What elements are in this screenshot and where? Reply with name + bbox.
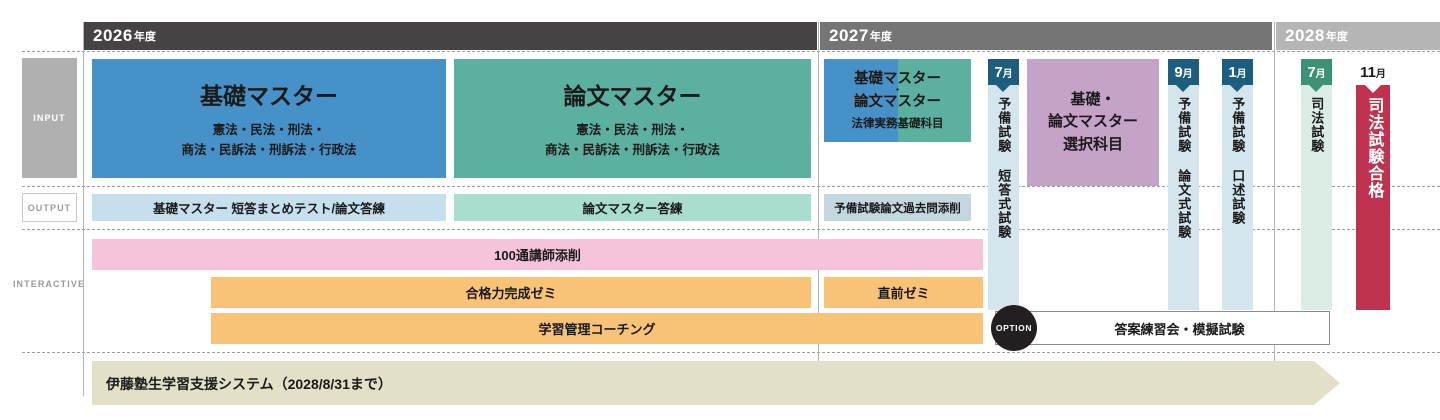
exam-label: 予備試験 短答式試験 (997, 85, 1011, 239)
year-number: 2027 (829, 26, 869, 46)
block-label: 基礎マスター 短答まとめテスト/論文答練 (153, 198, 385, 217)
exam-month-unit: 月 (1316, 65, 1326, 80)
block-label: 予備試験論文過去問添削 (834, 200, 961, 216)
row-label-output: OUTPUT (22, 193, 77, 222)
year-header-2026: 2026 年度 (84, 22, 817, 50)
exam-month-number: 7 (1307, 64, 1315, 81)
year-number: 2028 (1285, 26, 1325, 46)
row-label-interactive: INTERACTIVE (14, 276, 84, 292)
interactive-block-chokuzen-zemi[interactable]: 直前ゼミ (824, 277, 983, 308)
course-timeline-diagram: 2026 年度 2027 年度 2028 年度 INPUT OUTPUT INT… (0, 0, 1440, 420)
block-label: 学習管理コーチング (538, 319, 655, 338)
exam-month-badge: 1月 (1222, 59, 1253, 85)
exam-month-badge: 9月 (1168, 59, 1199, 85)
option-block-toan-renshukai[interactable]: 答案練習会・模擬試験 (995, 311, 1330, 345)
exam-month-unit: 月 (1376, 65, 1386, 80)
exam-month-badge: 11月 (1356, 59, 1390, 85)
interactive-block-goukakuryoku-zemi[interactable]: 合格力完成ゼミ (211, 277, 811, 308)
exam-badge-arrow-yobi-ronbun (1176, 85, 1190, 92)
option-badge: OPTION (991, 305, 1037, 351)
exam-column-shiho-shiken[interactable]: 7月 司法試験 (1301, 59, 1332, 310)
year-suffix: 年度 (870, 28, 892, 44)
block-subject-line-2: 商法・民訴法・刑訴法・行政法 (545, 141, 720, 160)
split-label-group: 基礎マスター ・ 論文マスター 法律実務基礎科目 (824, 59, 971, 142)
input-block-sentaku-kamoku[interactable]: 基礎・ 論文マスター 選択科目 (1027, 59, 1159, 186)
year-suffix: 年度 (1326, 28, 1348, 44)
block-subject-line-1: 憲法・民法・刑法・ (576, 121, 689, 140)
year-number: 2026 (93, 26, 133, 46)
exam-month-number: 7 (994, 64, 1002, 81)
exam-month-number: 1 (1228, 64, 1236, 81)
block-title-b: 論文マスター (854, 93, 941, 113)
exam-column-yobi-tanto[interactable]: 7月 予備試験 短答式試験 (988, 59, 1019, 310)
exam-column-shiho-goukaku[interactable]: 11月 司法試験合格 (1356, 59, 1390, 310)
block-title-b: 論文マスター (1048, 111, 1138, 134)
exam-month-number: 11 (1360, 64, 1376, 81)
input-block-ronbun-master[interactable]: 論文マスター 憲法・民法・刑法・ 商法・民訴法・刑訴法・行政法 (454, 59, 811, 178)
block-label: 答案練習会・模擬試験 (1080, 319, 1244, 338)
block-subtitle: 法律実務基礎科目 (852, 115, 944, 131)
exam-month-badge: 7月 (988, 59, 1019, 85)
output-block-ronbun-tooren[interactable]: 論文マスター答練 (454, 194, 811, 221)
exam-month-badge: 7月 (1301, 59, 1332, 85)
block-title-c: 選択科目 (1063, 134, 1123, 157)
exam-badge-arrow-yobi-tanto (996, 85, 1010, 92)
exam-label: 予備試験 口述試験 (1231, 85, 1245, 225)
block-label: 直前ゼミ (877, 283, 929, 302)
exam-column-yobi-ronbun[interactable]: 9月 予備試験 論文式試験 (1168, 59, 1199, 310)
separator-below-interactive (22, 352, 1440, 353)
output-block-kiso-tanto-test[interactable]: 基礎マスター 短答まとめテスト/論文答練 (92, 194, 446, 221)
block-subject-line-1: 憲法・民法・刑法・ (213, 121, 326, 140)
year-suffix: 年度 (134, 28, 156, 44)
exam-badge-arrow-shiho-shiken (1309, 85, 1323, 92)
output-block-yobishiken-kakomon[interactable]: 予備試験論文過去問添削 (824, 194, 971, 221)
input-block-kiso-master[interactable]: 基礎マスター 憲法・民法・刑法・ 商法・民訴法・刑訴法・行政法 (92, 59, 446, 178)
exam-badge-arrow-shiho-goukaku (1365, 85, 1381, 93)
exam-label: 予備試験 論文式試験 (1177, 85, 1191, 239)
block-label: 論文マスター答練 (582, 198, 682, 217)
arrow-label: 伊藤塾生学習支援システム（2028/8/31まで） (106, 374, 392, 394)
interactive-block-gakushu-kanri-coaching[interactable]: 学習管理コーチング (211, 313, 983, 344)
interactive-block-100tsu-tensaku[interactable]: 100通講師添削 (92, 239, 983, 270)
block-label: 100通講師添削 (494, 245, 581, 264)
year-header-2027: 2027 年度 (820, 22, 1272, 50)
footer-support-system-arrow[interactable]: 伊藤塾生学習支援システム（2028/8/31まで） (92, 361, 1340, 405)
block-subject-line-2: 商法・民訴法・刑訴法・行政法 (181, 141, 356, 160)
year-header-2028: 2028 年度 (1276, 22, 1440, 50)
exam-badge-arrow-yobi-koujutsu (1230, 85, 1244, 92)
block-title: 論文マスター (564, 77, 702, 111)
exam-month-unit: 月 (1003, 65, 1013, 80)
exam-month-number: 9 (1174, 64, 1182, 81)
arrow-head (1314, 361, 1340, 405)
exam-month-unit: 月 (1183, 65, 1193, 80)
block-title-a: 基礎・ (1070, 89, 1115, 112)
exam-column-yobi-koujutsu[interactable]: 1月 予備試験 口述試験 (1222, 59, 1253, 310)
exam-label: 司法試験合格 (1365, 85, 1382, 199)
row-label-input: INPUT (22, 58, 77, 178)
input-block-jitsumu-kiso[interactable]: 基礎マスター ・ 論文マスター 法律実務基礎科目 (824, 59, 971, 142)
exam-month-unit: 月 (1237, 65, 1247, 80)
block-title: 基礎マスター (200, 77, 338, 111)
gridline-left (83, 22, 84, 396)
separator-above-input (22, 51, 1440, 52)
block-label: 合格力完成ゼミ (465, 283, 556, 302)
exam-label: 司法試験 (1310, 85, 1324, 153)
